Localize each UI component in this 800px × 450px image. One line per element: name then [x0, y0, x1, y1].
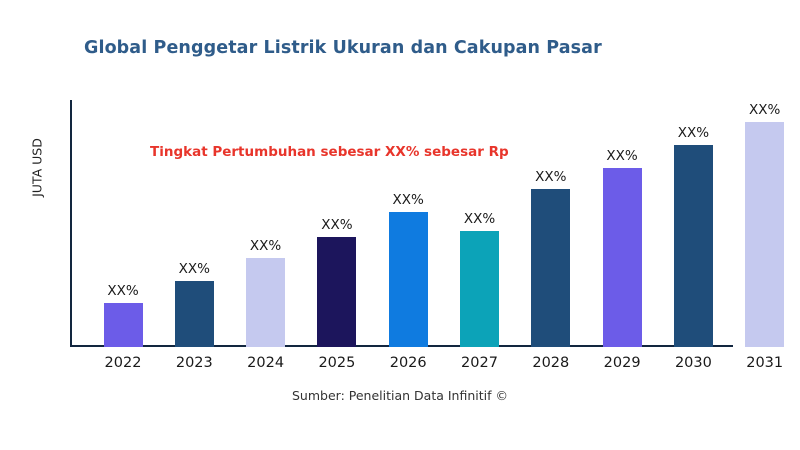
- bars-layer: XX%XX%XX%XX%XX%XX%XX%XX%XX%XX%: [70, 100, 780, 347]
- bar-2026[interactable]: [389, 212, 428, 347]
- bar-2023[interactable]: [175, 281, 214, 347]
- bar-2027[interactable]: [460, 231, 499, 347]
- bar-2031[interactable]: [745, 122, 784, 347]
- x-tick-2022: 2022: [93, 355, 153, 371]
- bar-chart-figure: Global Penggetar Listrik Ukuran dan Caku…: [0, 0, 800, 450]
- bar-value-label-2022: XX%: [107, 283, 138, 299]
- bar-value-label-2027: XX%: [464, 211, 495, 227]
- bar-value-label-2030: XX%: [678, 125, 709, 141]
- x-tick-2029: 2029: [592, 355, 652, 371]
- bar-2030[interactable]: [674, 145, 713, 347]
- bar-2025[interactable]: [317, 237, 356, 347]
- x-tick-2023: 2023: [164, 355, 224, 371]
- bar-value-label-2024: XX%: [250, 238, 281, 254]
- bar-2024[interactable]: [246, 258, 285, 347]
- x-tick-2031: 2031: [735, 355, 795, 371]
- x-tick-2027: 2027: [450, 355, 510, 371]
- x-tick-2024: 2024: [236, 355, 296, 371]
- bar-value-label-2028: XX%: [535, 169, 566, 185]
- bar-value-label-2029: XX%: [606, 148, 637, 164]
- x-tick-2028: 2028: [521, 355, 581, 371]
- x-tick-labels: 2022202320242025202620272028202920302031: [70, 355, 780, 379]
- bar-value-label-2026: XX%: [393, 192, 424, 208]
- bar-2028[interactable]: [531, 189, 570, 347]
- bar-2022[interactable]: [104, 303, 143, 347]
- bar-value-label-2031: XX%: [749, 102, 780, 118]
- x-tick-2025: 2025: [307, 355, 367, 371]
- source-note: Sumber: Penelitian Data Infinitif ©: [0, 388, 800, 403]
- page-title: Global Penggetar Listrik Ukuran dan Caku…: [84, 38, 602, 58]
- bar-value-label-2025: XX%: [321, 217, 352, 233]
- x-tick-2026: 2026: [378, 355, 438, 371]
- x-tick-2030: 2030: [663, 355, 723, 371]
- bar-2029[interactable]: [603, 168, 642, 347]
- y-axis-label: JUTA USD: [30, 113, 45, 223]
- bar-value-label-2023: XX%: [179, 261, 210, 277]
